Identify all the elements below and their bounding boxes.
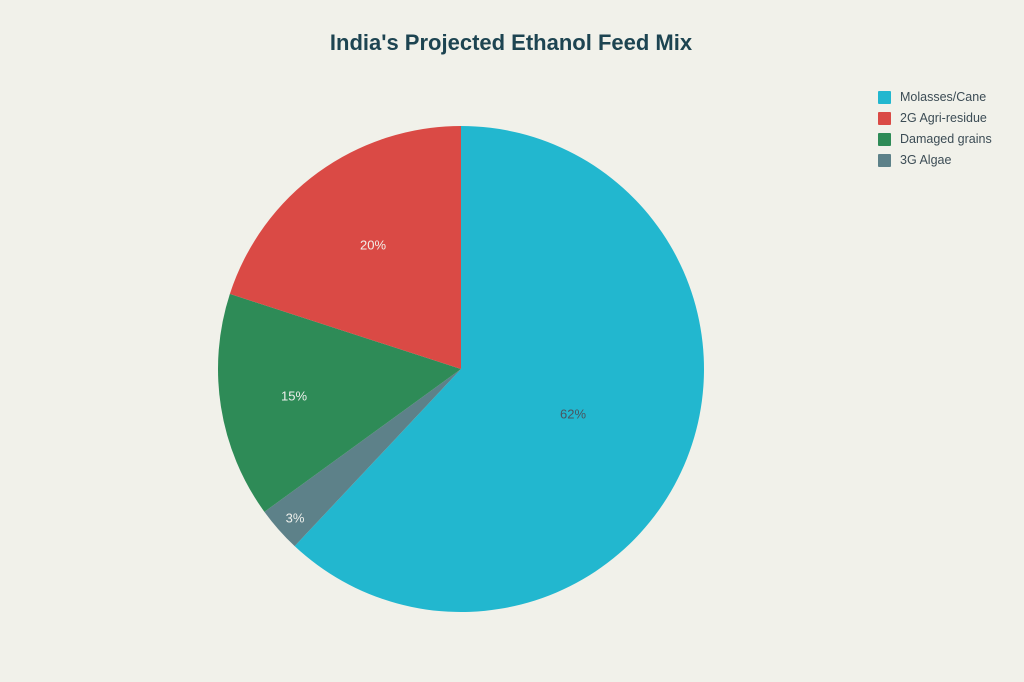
- legend-item[interactable]: 2G Agri-residue: [878, 111, 992, 125]
- legend-swatch-icon: [878, 154, 891, 167]
- legend-swatch-icon: [878, 91, 891, 104]
- legend-item-label: 2G Agri-residue: [900, 111, 987, 125]
- legend-item-label: Molasses/Cane: [900, 90, 986, 104]
- legend-item-label: 3G Algae: [900, 153, 951, 167]
- legend-item[interactable]: Molasses/Cane: [878, 90, 992, 104]
- chart-title: India's Projected Ethanol Feed Mix: [330, 30, 692, 56]
- legend-swatch-icon: [878, 112, 891, 125]
- chart-title-wrap: India's Projected Ethanol Feed Mix: [0, 30, 1024, 56]
- legend-item-label: Damaged grains: [900, 132, 992, 146]
- pie-chart-canvas: [0, 0, 1024, 682]
- legend-swatch-icon: [878, 133, 891, 146]
- legend-item[interactable]: Damaged grains: [878, 132, 992, 146]
- chart-legend: Molasses/Cane2G Agri-residueDamaged grai…: [878, 90, 992, 167]
- legend-item[interactable]: 3G Algae: [878, 153, 992, 167]
- pie-slices-group: [218, 126, 704, 612]
